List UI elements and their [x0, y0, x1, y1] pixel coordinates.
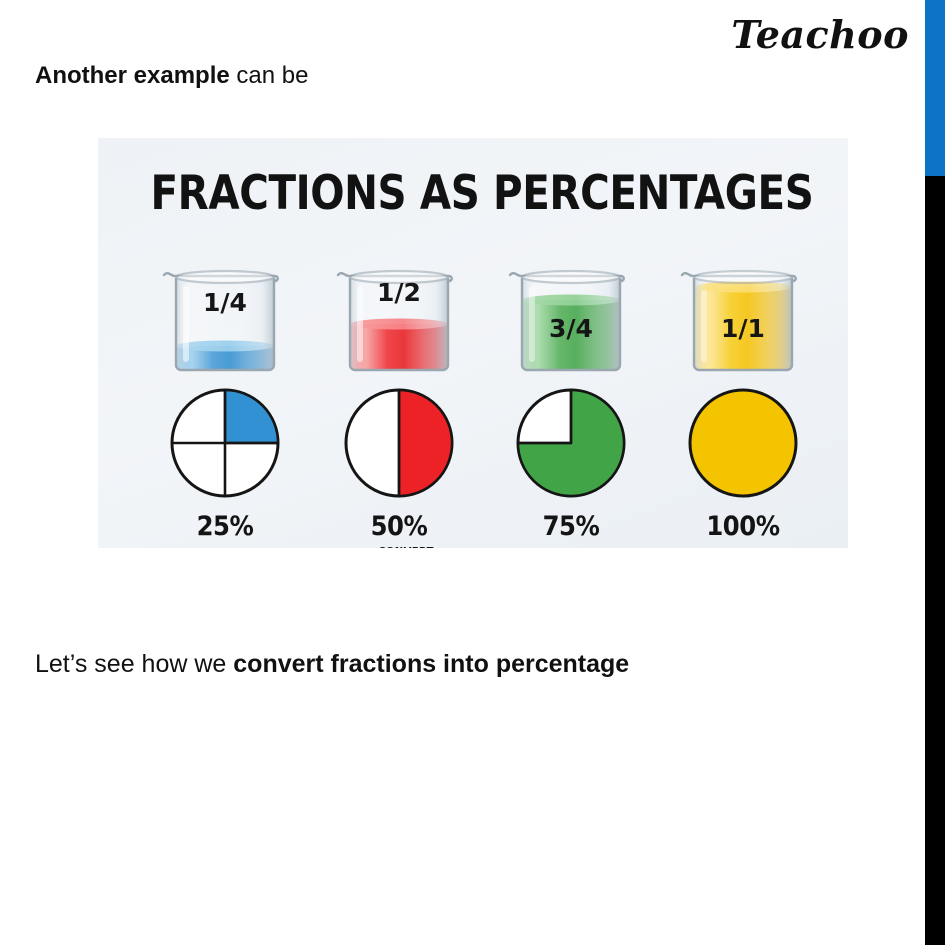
- outro-text-bold: convert fractions into percentage: [233, 650, 629, 678]
- pie-1-graphic: [324, 383, 474, 511]
- beaker-1-fraction-label: 1/2: [324, 278, 474, 307]
- pie-3-graphic: [668, 383, 818, 511]
- pie-0: [150, 383, 300, 511]
- outro-text: Let’s see how we convert fractions into …: [35, 650, 629, 679]
- slide-page: Teachoo Another example can be FRACTIONS…: [0, 0, 945, 945]
- beaker-1: 1/2: [324, 256, 474, 381]
- convert-label: CONVERT: [366, 546, 446, 548]
- fraction-column-0: 1/4 25%: [150, 256, 300, 542]
- edge-strip-blue-segment: [925, 0, 945, 176]
- beaker-2-fraction-label: 3/4: [496, 314, 646, 343]
- pie-1-percent-label: 50%: [332, 511, 467, 542]
- pie-2-graphic: [496, 383, 646, 511]
- pie-3-percent-label: 100%: [676, 511, 811, 542]
- beaker-3-fraction-label: 1/1: [668, 314, 818, 343]
- fractions-figure-panel: FRACTIONS AS PERCENTAGES: [98, 138, 848, 548]
- right-edge-strip: [925, 0, 945, 945]
- intro-text: Another example can be: [35, 62, 308, 90]
- beaker-1-graphic: [324, 256, 474, 381]
- intro-text-rest: can be: [230, 62, 309, 89]
- beaker-3: 1/1: [668, 256, 818, 381]
- figure-title: FRACTIONS AS PERCENTAGES: [151, 166, 796, 221]
- beaker-0-fraction-label: 1/4: [150, 288, 300, 317]
- edge-strip-black-segment: [925, 176, 945, 945]
- convert-annotation: CONVERT: [366, 546, 446, 548]
- pie-2: [496, 383, 646, 511]
- fraction-column-1: 1/2 50%: [324, 256, 474, 542]
- pie-2-percent-label: 75%: [504, 511, 639, 542]
- fraction-column-3: 1/1 100%: [668, 256, 818, 542]
- beaker-0-graphic: [150, 256, 300, 381]
- beaker-0: 1/4: [150, 256, 300, 381]
- pie-0-graphic: [150, 383, 300, 511]
- fraction-column-2: 3/4 75%: [496, 256, 646, 542]
- intro-text-bold: Another example: [35, 62, 230, 89]
- teachoo-logo: Teachoo: [731, 12, 909, 57]
- beaker-2: 3/4: [496, 256, 646, 381]
- pie-0-percent-label: 25%: [158, 511, 293, 542]
- pie-1: [324, 383, 474, 511]
- outro-text-plain: Let’s see how we: [35, 650, 233, 678]
- pie-3: [668, 383, 818, 511]
